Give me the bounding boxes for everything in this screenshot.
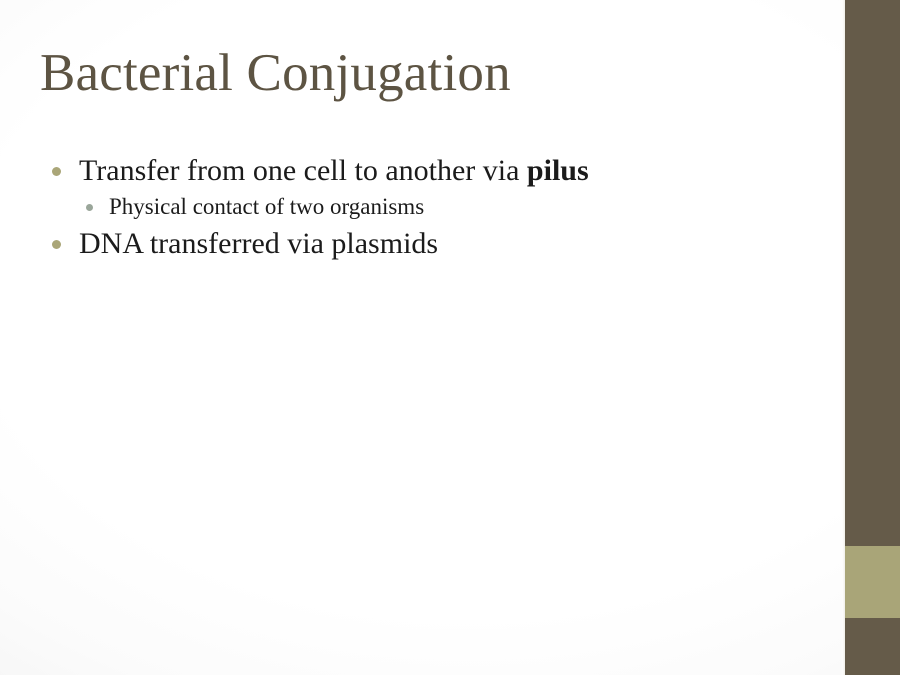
- bar-segment-top: [845, 0, 900, 546]
- slide-body: Transfer from one cell to another via pi…: [42, 152, 832, 265]
- bullet-text-plain: Transfer from one cell to another via: [79, 154, 527, 187]
- right-decorative-bar: [845, 0, 900, 675]
- bullet-text: Transfer from one cell to another via pi…: [79, 152, 589, 190]
- bullet-text-bold: pilus: [527, 154, 589, 187]
- bullet-item: DNA transferred via plasmids: [42, 225, 832, 263]
- bullet-dot-icon: [52, 240, 61, 249]
- bar-segment-bottom: [845, 618, 900, 675]
- bullet-dot-icon: [52, 167, 61, 176]
- bullet-text: Physical contact of two organisms: [109, 192, 424, 221]
- bullet-text: DNA transferred via plasmids: [79, 225, 438, 263]
- bar-segment-accent: [845, 546, 900, 618]
- presentation-slide: Bacterial Conjugation Transfer from one …: [0, 0, 900, 675]
- bullet-item: Physical contact of two organisms: [42, 192, 832, 221]
- slide-title: Bacterial Conjugation: [40, 44, 820, 103]
- bullet-item: Transfer from one cell to another via pi…: [42, 152, 832, 190]
- bullet-dot-icon: [86, 204, 93, 211]
